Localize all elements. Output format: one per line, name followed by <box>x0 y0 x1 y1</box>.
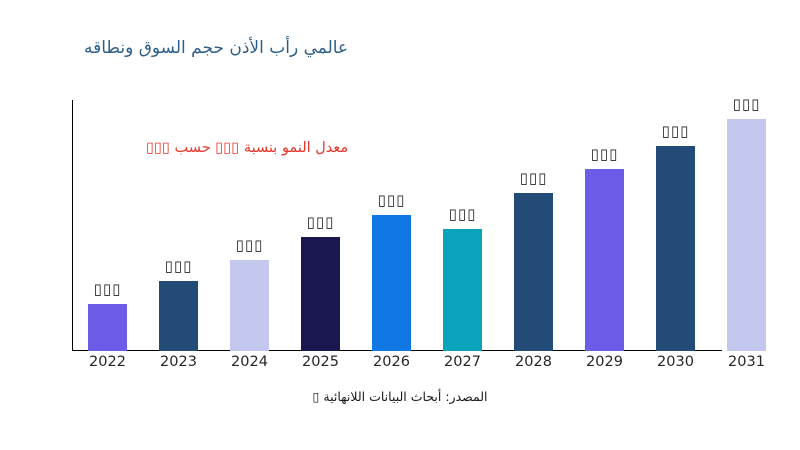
source-note: المصدر: أبحاث البيانات اللانهائية ▯ <box>0 389 800 404</box>
x-axis-tick-2031: 2031 <box>711 354 782 370</box>
bar-group: ▯▯▯ <box>640 100 711 351</box>
x-axis-tick-2027: 2027 <box>427 354 498 370</box>
bar[interactable] <box>301 237 340 351</box>
x-axis-tick-labels: 2022202320242025202620272028202920302031 <box>72 354 800 378</box>
x-axis-tick-2030: 2030 <box>640 354 711 370</box>
bar-value-label: ▯▯▯ <box>727 95 766 113</box>
bar[interactable] <box>656 146 695 351</box>
bar[interactable] <box>372 215 411 351</box>
x-axis-tick-2026: 2026 <box>356 354 427 370</box>
bar-value-label: ▯▯▯ <box>301 213 340 231</box>
bar-value-label: ▯▯▯ <box>585 145 624 163</box>
bar-value-label: ▯▯▯ <box>88 280 127 298</box>
bar-group: ▯▯▯ <box>72 100 143 351</box>
bar-value-label: ▯▯▯ <box>372 191 411 209</box>
bar-value-label: ▯▯▯ <box>159 257 198 275</box>
x-axis-tick-2028: 2028 <box>498 354 569 370</box>
bar-group: ▯▯▯ <box>214 100 285 351</box>
bar-group: ▯▯▯ <box>356 100 427 351</box>
bar-group: ▯▯▯ <box>569 100 640 351</box>
bar[interactable] <box>159 281 198 351</box>
bar-group: ▯▯▯ <box>498 100 569 351</box>
bar-group: ▯▯▯ <box>427 100 498 351</box>
plot-area: ▯▯▯▯▯▯▯▯▯▯▯▯▯▯▯▯▯▯▯▯▯▯▯▯▯▯▯▯▯▯ <box>72 100 800 351</box>
bar-group: ▯▯▯ <box>285 100 356 351</box>
x-axis-tick-2029: 2029 <box>569 354 640 370</box>
bar-group: ▯▯▯ <box>143 100 214 351</box>
x-axis-tick-2023: 2023 <box>143 354 214 370</box>
bar-group: ▯▯▯ <box>711 100 782 351</box>
bar[interactable] <box>514 193 553 351</box>
bar[interactable] <box>585 169 624 351</box>
bar-value-label: ▯▯▯ <box>656 122 695 140</box>
chart-title: عالمي رأب الأذن حجم السوق ونطاقه <box>84 38 348 58</box>
bar[interactable] <box>230 260 269 351</box>
bar-value-label: ▯▯▯ <box>230 236 269 254</box>
bar-value-label: ▯▯▯ <box>514 169 553 187</box>
bar[interactable] <box>443 229 482 351</box>
x-axis-tick-2022: 2022 <box>72 354 143 370</box>
bar[interactable] <box>727 119 766 351</box>
bar-chart: عالمي رأب الأذن حجم السوق ونطاقه مليون د… <box>0 0 800 450</box>
x-axis-tick-2024: 2024 <box>214 354 285 370</box>
bar[interactable] <box>88 304 127 351</box>
x-axis-tick-2025: 2025 <box>285 354 356 370</box>
growth-rate-annotation: معدل النمو بنسبة ▯▯▯ حسب ▯▯▯ <box>146 140 348 156</box>
bar-value-label: ▯▯▯ <box>443 205 482 223</box>
